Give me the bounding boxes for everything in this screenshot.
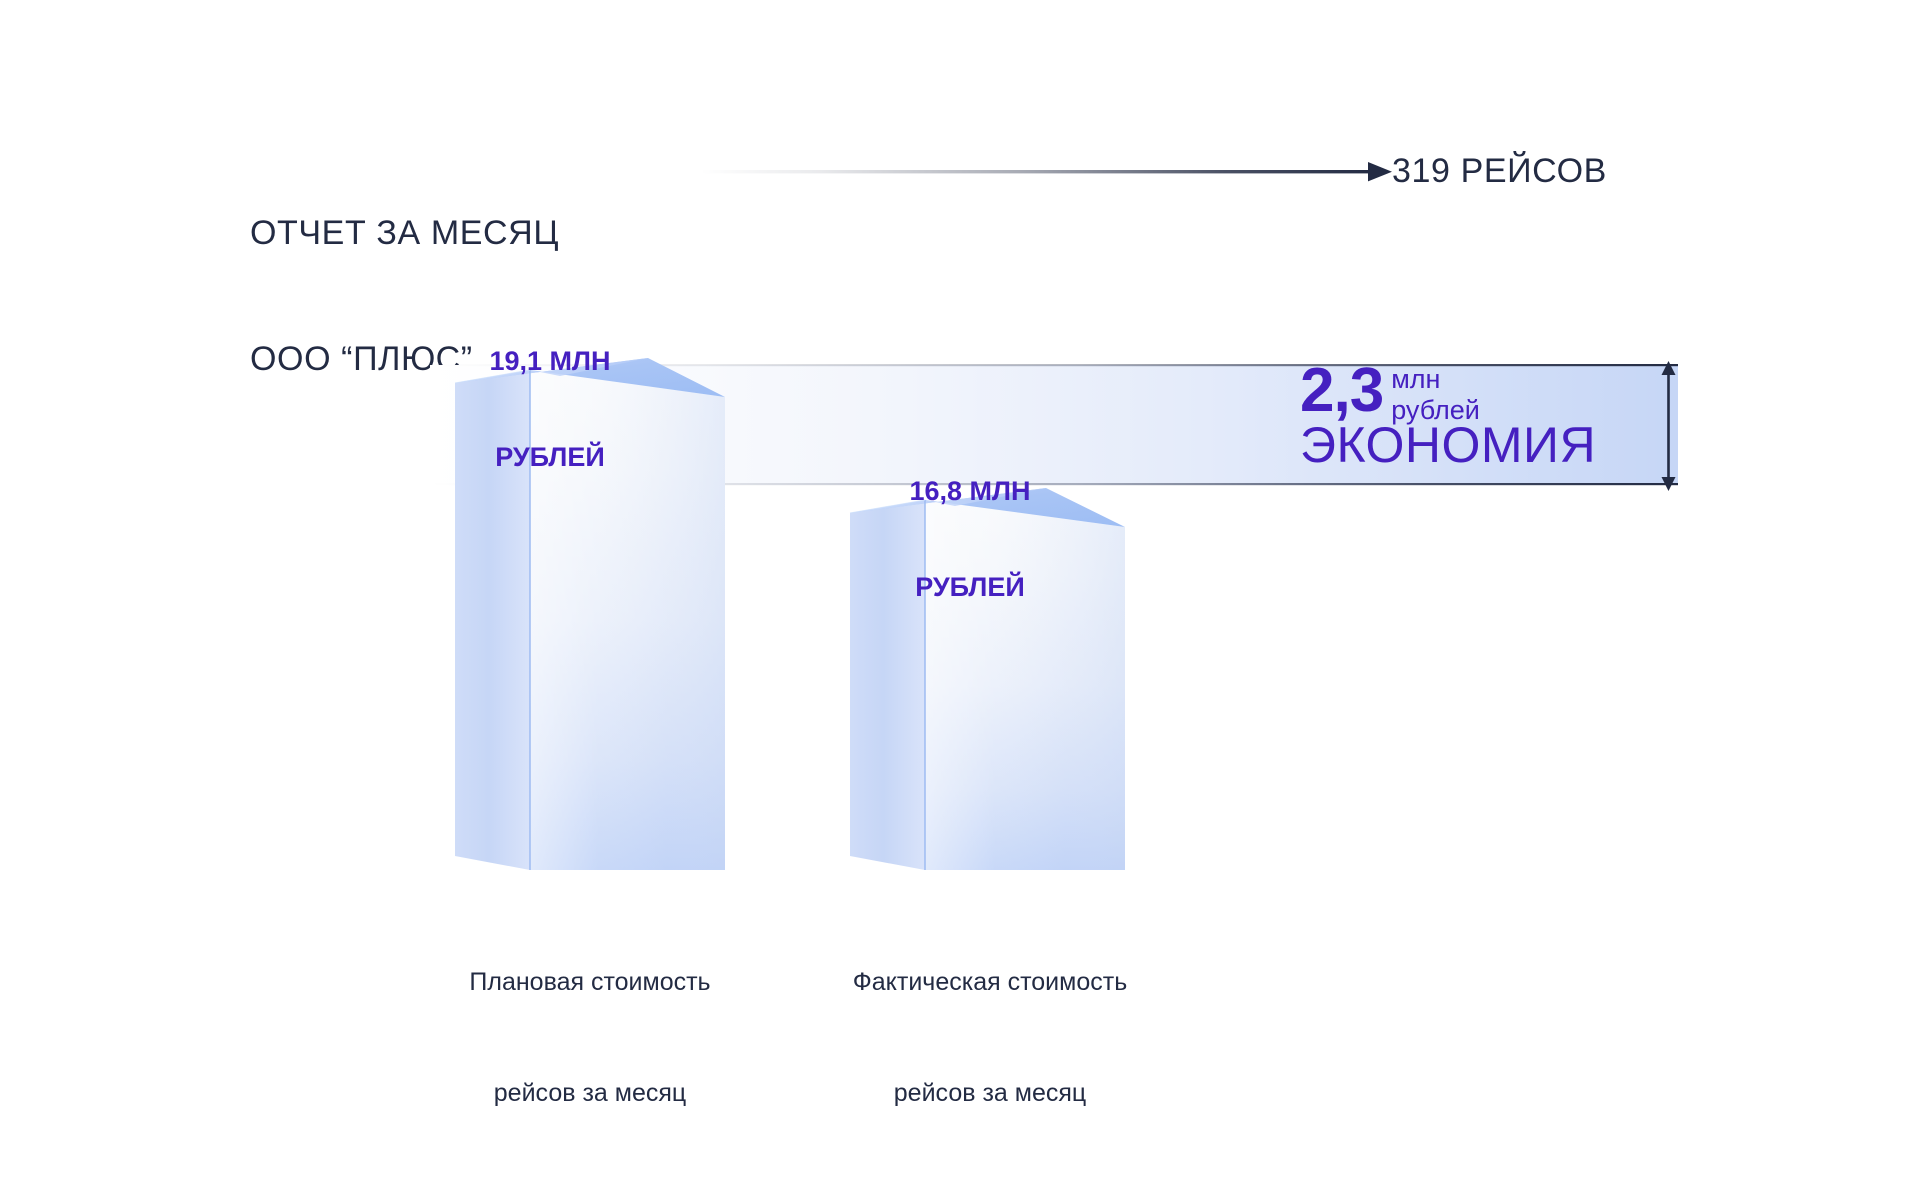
bar-value-line-2: РУБЛЕЙ [430, 441, 670, 473]
bar-value-line-2: РУБЛЕЙ [840, 571, 1100, 603]
bar-caption-actual: Фактическая стоимость рейсов за месяц [800, 890, 1180, 1186]
bar-caption-line-2: рейсов за месяц [400, 1075, 780, 1112]
infographic-canvas: ОТЧЕТ ЗА МЕСЯЦ ООО “ПЛЮС” 319 РЕЙСОВ [0, 0, 1920, 1080]
bar-caption-line-1: Плановая стоимость [400, 964, 780, 1001]
trips-count: 319 РЕЙСОВ [1392, 150, 1607, 192]
bar-caption-planned: Плановая стоимость рейсов за месяц [400, 890, 780, 1186]
bar-value-label-planned: 19,1 МЛН РУБЛЕЙ [430, 281, 670, 537]
double-headed-vertical-arrow-icon [1655, 356, 1689, 496]
bar-caption-line-2: рейсов за месяц [800, 1075, 1180, 1112]
bar-caption-line-1: Фактическая стоимость [800, 964, 1180, 1001]
bar-value-label-actual: 16,8 МЛН РУБЛЕЙ [840, 411, 1100, 667]
long-right-arrow-icon [700, 150, 1400, 194]
report-title-line-1: ОТЧЕТ ЗА МЕСЯЦ [250, 212, 559, 254]
bar-value-line-1: 16,8 МЛН [840, 475, 1100, 507]
bar-value-line-1: 19,1 МЛН [430, 345, 670, 377]
